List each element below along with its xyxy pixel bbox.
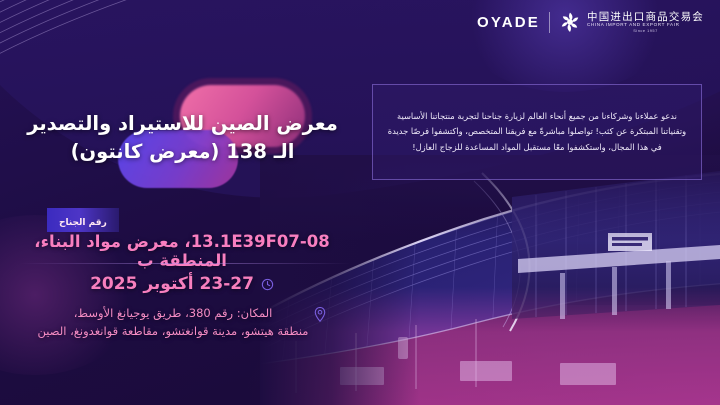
location-line-2: منطقة هيتشو، مدينة قوانغتشو، مقاطعة قوان… xyxy=(38,323,309,341)
fair-name-english: CHINA IMPORT AND EXPORT FAIR xyxy=(587,23,704,28)
oyade-brand-text: OYADE xyxy=(477,14,540,31)
fair-name-chinese: 中国进出口商品交易会 xyxy=(587,12,704,23)
page-title: معرض الصين للاستيراد والتصدير الـ 138 (م… xyxy=(10,110,355,165)
description-panel: ندعو عملاءنا وشركاءنا من جميع أنحاء العا… xyxy=(372,84,702,180)
title-line-1: معرض الصين للاستيراد والتصدير xyxy=(10,110,355,138)
booth-badge-label: رقم الجناح xyxy=(59,218,107,228)
clock-icon xyxy=(261,278,274,291)
poster-canvas: OYADE 中国进出口商品交易会 CHINA IMPORT AND EXPORT… xyxy=(0,0,720,405)
canton-fair-logo: 中国进出口商品交易会 CHINA IMPORT AND EXPORT FAIR … xyxy=(559,11,704,33)
title-line-2: الـ 138 (معرض كانتون) xyxy=(10,138,355,166)
fair-since-text: Since 1957 xyxy=(587,29,704,33)
header-logo-bar: OYADE 中国进出口商品交易会 CHINA IMPORT AND EXPORT… xyxy=(477,11,704,33)
description-text: ندعو عملاءنا وشركاءنا من جميع أنحاء العا… xyxy=(386,109,688,155)
canton-fair-flower-logo-icon xyxy=(559,11,581,33)
vertical-divider-icon xyxy=(549,12,550,33)
map-pin-icon xyxy=(314,307,326,322)
event-date-row: 23-27 أكتوبر 2025 xyxy=(6,274,358,294)
booth-number-badge: رقم الجناح xyxy=(47,208,119,232)
canton-fair-text-block: 中国进出口商品交易会 CHINA IMPORT AND EXPORT FAIR … xyxy=(587,12,704,33)
event-location-row: المكان: رقم 380، طريق يوجيانغ الأوسط، من… xyxy=(4,305,360,341)
event-date-text: 23-27 أكتوبر 2025 xyxy=(90,274,254,294)
booth-number-value: 13.1E39F07-08، معرض مواد البناء، المنطقة… xyxy=(6,232,358,270)
section-divider xyxy=(20,263,350,264)
location-line-1: المكان: رقم 380، طريق يوجيانغ الأوسط، xyxy=(74,306,273,320)
event-location-text: المكان: رقم 380، طريق يوجيانغ الأوسط، من… xyxy=(38,305,309,341)
